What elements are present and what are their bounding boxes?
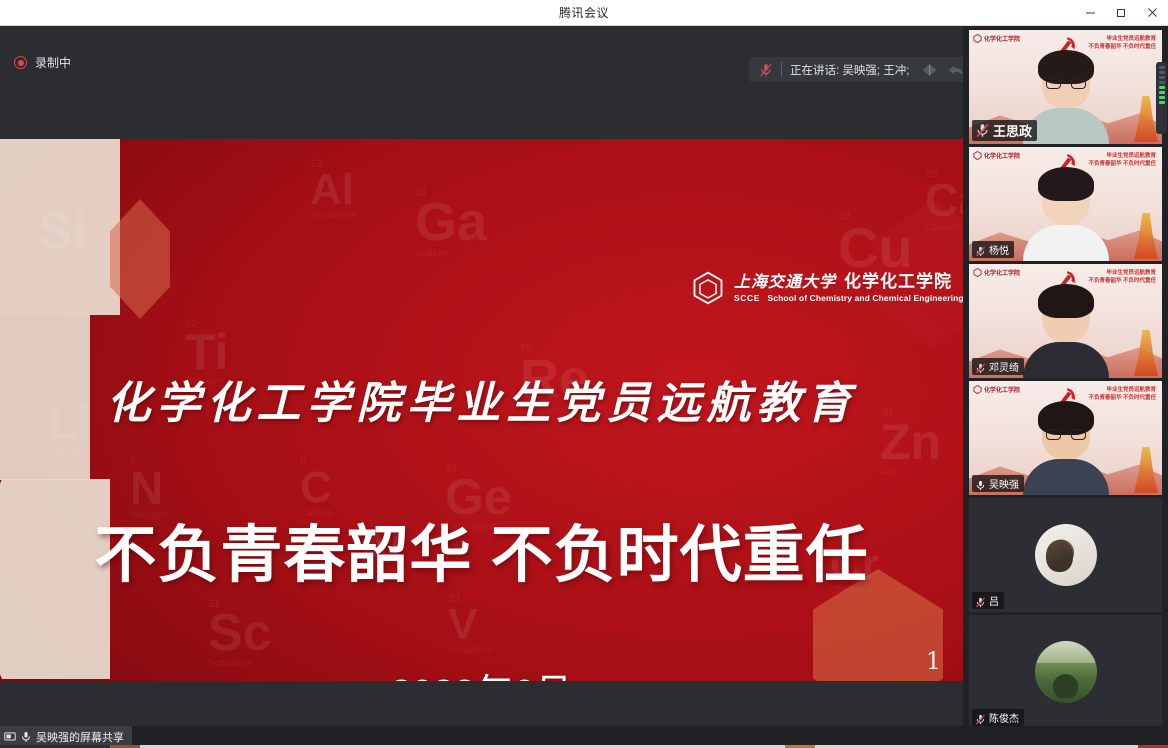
toolbar-divider [781, 62, 782, 77]
virtual-bg-college-label: 化学化工学院 [984, 385, 1020, 394]
logo-abbr: SCCE [734, 293, 760, 303]
participant-name-badge: 杨悦 [972, 241, 1014, 258]
participant-name: 杨悦 [989, 242, 1009, 257]
window-title-bar: 腾讯会议 [0, 0, 1168, 26]
logo-english-name: School of Chemistry and Chemical Enginee… [768, 293, 964, 303]
meter-segment [1159, 86, 1165, 89]
participant-person [1023, 173, 1109, 261]
participant-name-badge: 吕 [972, 592, 1004, 609]
participant-name-badge: 邓灵绮 [972, 358, 1024, 375]
window-controls [1075, 0, 1168, 25]
participant-tile[interactable]: 化学化工学院毕业生党员远航教育不负青春韶华 不负时代重任王思政 [969, 30, 1162, 144]
participant-person [1023, 407, 1109, 495]
participant-name: 陈俊杰 [989, 710, 1019, 725]
logo-college-name: 化学化工学院 [844, 273, 952, 292]
glasses-icon [1046, 78, 1086, 89]
participant-name-badge: 王思政 [972, 120, 1037, 141]
virtual-bg-slogan: 毕业生党员远航教育不负青春韶华 不负时代重任 [1088, 386, 1156, 403]
virtual-bg-college-badge: 化学化工学院 [973, 151, 1020, 160]
logo-university-name: 上海交通大学 [734, 273, 836, 291]
avatar [1035, 524, 1097, 586]
participant-name: 吴映强 [989, 476, 1019, 491]
virtual-bg-slogan: 毕业生党员远航教育不负青春韶华 不负时代重任 [1088, 269, 1156, 286]
slide-headline: 不负青春韶华 不负时代重任 [0, 504, 963, 594]
participant-tile[interactable]: 陈俊杰 [969, 615, 1162, 729]
virtual-bg-college-badge: 化学化工学院 [973, 385, 1020, 394]
presentation-slide: 13AlAluminium14SiSilicon31GaGallium29CuC… [0, 139, 963, 681]
shared-screen-stage: 录制中 正在讲话: 吴映强; 王冲; [0, 26, 963, 726]
element-watermark: 21ScScandium [208, 599, 272, 668]
participant-rail[interactable]: 化学化工学院毕业生党员远航教育不负青春韶华 不负时代重任王思政化学化工学院毕业生… [963, 26, 1168, 726]
recording-indicator: 录制中 [14, 54, 71, 71]
meter-segment [1159, 91, 1165, 94]
speaking-label: 正在讲话: 吴映强; 王冲; [784, 62, 917, 78]
audio-level-meter [1156, 62, 1167, 134]
scce-logo-icon [973, 34, 982, 43]
meter-segment [1159, 76, 1165, 79]
participant-name: 邓灵绮 [989, 359, 1019, 374]
speaking-toolbar: 正在讲话: 吴映强; 王冲; [749, 57, 973, 82]
participant-tile[interactable]: 化学化工学院毕业生党员远航教育不负青春韶华 不负时代重任杨悦 [969, 147, 1162, 261]
meter-segment [1159, 71, 1165, 74]
virtual-bg-college-badge: 化学化工学院 [973, 268, 1020, 277]
glasses-icon [1046, 429, 1086, 440]
participant-tile-list: 化学化工学院毕业生党员远航教育不负青春韶华 不负时代重任王思政化学化工学院毕业生… [963, 30, 1168, 729]
close-icon[interactable] [1137, 0, 1168, 25]
scce-logo-icon [973, 151, 982, 160]
virtual-bg-slogan: 毕业生党员远航教育不负青春韶华 不负时代重任 [1088, 152, 1156, 169]
virtual-bg-college-label: 化学化工学院 [984, 34, 1020, 43]
screen-share-task-label: 吴映强的屏幕共享 [36, 729, 124, 745]
participant-tile[interactable]: 吕 [969, 498, 1162, 612]
virtual-bg-college-label: 化学化工学院 [984, 268, 1020, 277]
college-logo: 上海交通大学 化学化工学院 SCCE School of Chemistry a… [690, 270, 963, 306]
participant-name-badge: 吴映强 [972, 475, 1024, 492]
mic-active-icon[interactable] [975, 478, 986, 489]
meter-segment [1159, 101, 1165, 104]
participant-name: 吕 [989, 593, 999, 608]
minimize-icon[interactable] [1075, 0, 1106, 25]
participant-tile[interactable]: 化学化工学院毕业生党员远航教育不负青春韶华 不负时代重任吴映强 [969, 381, 1162, 495]
participant-person [1023, 290, 1109, 378]
mic-muted-icon[interactable] [975, 712, 986, 723]
scce-hexagon-logo-icon [690, 270, 726, 306]
window-title: 腾讯会议 [0, 4, 1168, 21]
mic-muted-icon[interactable] [975, 123, 990, 138]
decor-hexagon-shape [0, 139, 120, 315]
element-watermark: 13AlAluminium [310, 159, 357, 221]
participant-tile[interactable]: 化学化工学院毕业生党员远航教育不负青春韶华 不负时代重任邓灵绮 [969, 264, 1162, 378]
element-watermark: 31GaGallium [415, 187, 487, 258]
meeting-window: 录制中 正在讲话: 吴映强; 王冲; [0, 26, 1168, 726]
slide-calligraphy-title: 化学化工学院毕业生党员远航教育 [0, 367, 963, 431]
participant-name: 王思政 [993, 121, 1032, 140]
meter-segment [1159, 81, 1165, 84]
meter-segment [1159, 66, 1165, 69]
recording-label: 录制中 [35, 54, 71, 71]
mic-muted-icon[interactable] [975, 361, 986, 372]
mic-muted-icon[interactable] [753, 57, 779, 82]
collapse-arrows-icon[interactable] [917, 57, 943, 82]
screen-share-icon [4, 731, 16, 743]
slide-date: 2022年6月 [0, 662, 963, 681]
maximize-icon[interactable] [1106, 0, 1137, 25]
record-dot-icon [14, 56, 27, 69]
scce-logo-icon [973, 385, 982, 394]
mic-icon [20, 731, 32, 743]
slide-page-number: 1 [926, 647, 941, 675]
element-watermark: 23VVanadium [448, 594, 492, 656]
mic-muted-icon[interactable] [975, 595, 986, 606]
participant-name-badge: 陈俊杰 [972, 709, 1024, 726]
virtual-bg-slogan: 毕业生党员远航教育不负青春韶华 不负时代重任 [1088, 35, 1156, 52]
virtual-bg-college-badge: 化学化工学院 [973, 34, 1020, 43]
meter-segment [1159, 96, 1165, 99]
virtual-bg-college-label: 化学化工学院 [984, 151, 1020, 160]
scce-logo-icon [973, 268, 982, 277]
avatar [1035, 641, 1097, 703]
mic-muted-icon[interactable] [975, 244, 986, 255]
